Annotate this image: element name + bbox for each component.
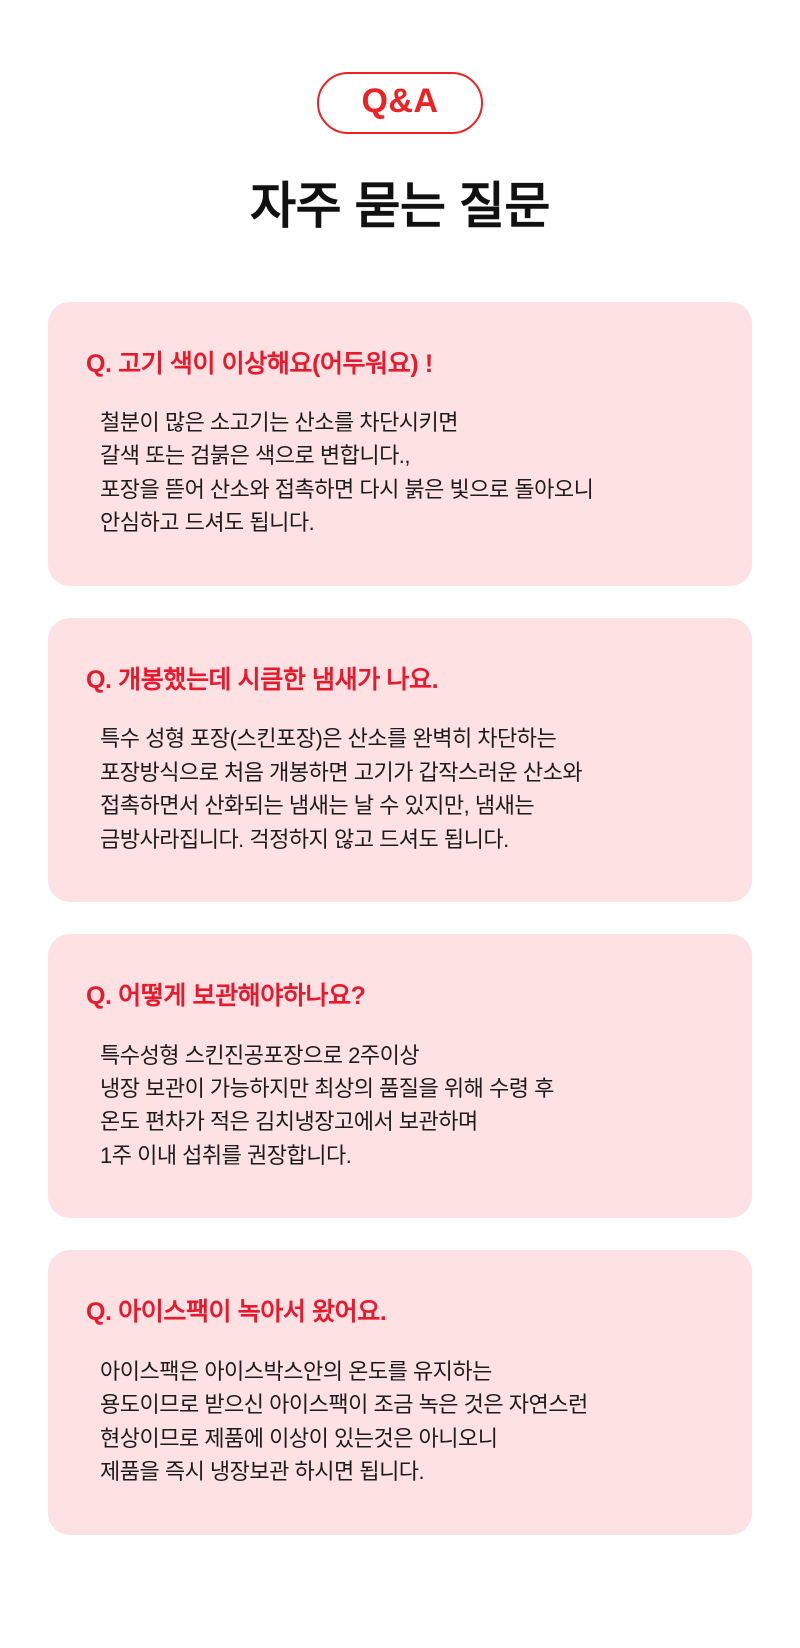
faq-question: Q. 어떻게 보관해야하나요?	[82, 980, 718, 1013]
page-header: Q&A 자주 묻는 질문	[0, 0, 800, 236]
faq-item-2: Q. 개봉했는데 시큼한 냄새가 나요. 특수 성형 포장(스킨포장)은 산소를…	[48, 618, 752, 902]
faq-item-3: Q. 어떻게 보관해야하나요? 특수성형 스킨진공포장으로 2주이상 냉장 보관…	[48, 934, 752, 1218]
faq-answer: 아이스팩은 아이스박스안의 온도를 유지하는 용도이므로 받으신 아이스팩이 조…	[82, 1355, 718, 1489]
faq-answer: 특수성형 스킨진공포장으로 2주이상 냉장 보관이 가능하지만 최상의 품질을 …	[82, 1039, 718, 1173]
faq-answer: 특수 성형 포장(스킨포장)은 산소를 완벽히 차단하는 포장방식으로 처음 개…	[82, 722, 718, 856]
faq-question: Q. 아이스팩이 녹아서 왔어요.	[82, 1296, 718, 1329]
faq-answer: 철분이 많은 소고기는 산소를 차단시키면 갈색 또는 검붉은 색으로 변합니다…	[82, 406, 718, 540]
faq-item-1: Q. 고기 색이 이상해요(어두워요) ! 철분이 많은 소고기는 산소를 차단…	[48, 302, 752, 586]
faq-question: Q. 고기 색이 이상해요(어두워요) !	[82, 348, 718, 381]
faq-page: Q&A 자주 묻는 질문 Q. 고기 색이 이상해요(어두워요) ! 철분이 많…	[0, 0, 800, 1648]
faq-item-4: Q. 아이스팩이 녹아서 왔어요. 아이스팩은 아이스박스안의 온도를 유지하는…	[48, 1250, 752, 1534]
qa-badge: Q&A	[317, 72, 482, 134]
page-title: 자주 묻는 질문	[0, 176, 800, 236]
badge-row: Q&A	[0, 72, 800, 134]
faq-list: Q. 고기 색이 이상해요(어두워요) ! 철분이 많은 소고기는 산소를 차단…	[0, 302, 800, 1535]
faq-question: Q. 개봉했는데 시큼한 냄새가 나요.	[82, 664, 718, 697]
